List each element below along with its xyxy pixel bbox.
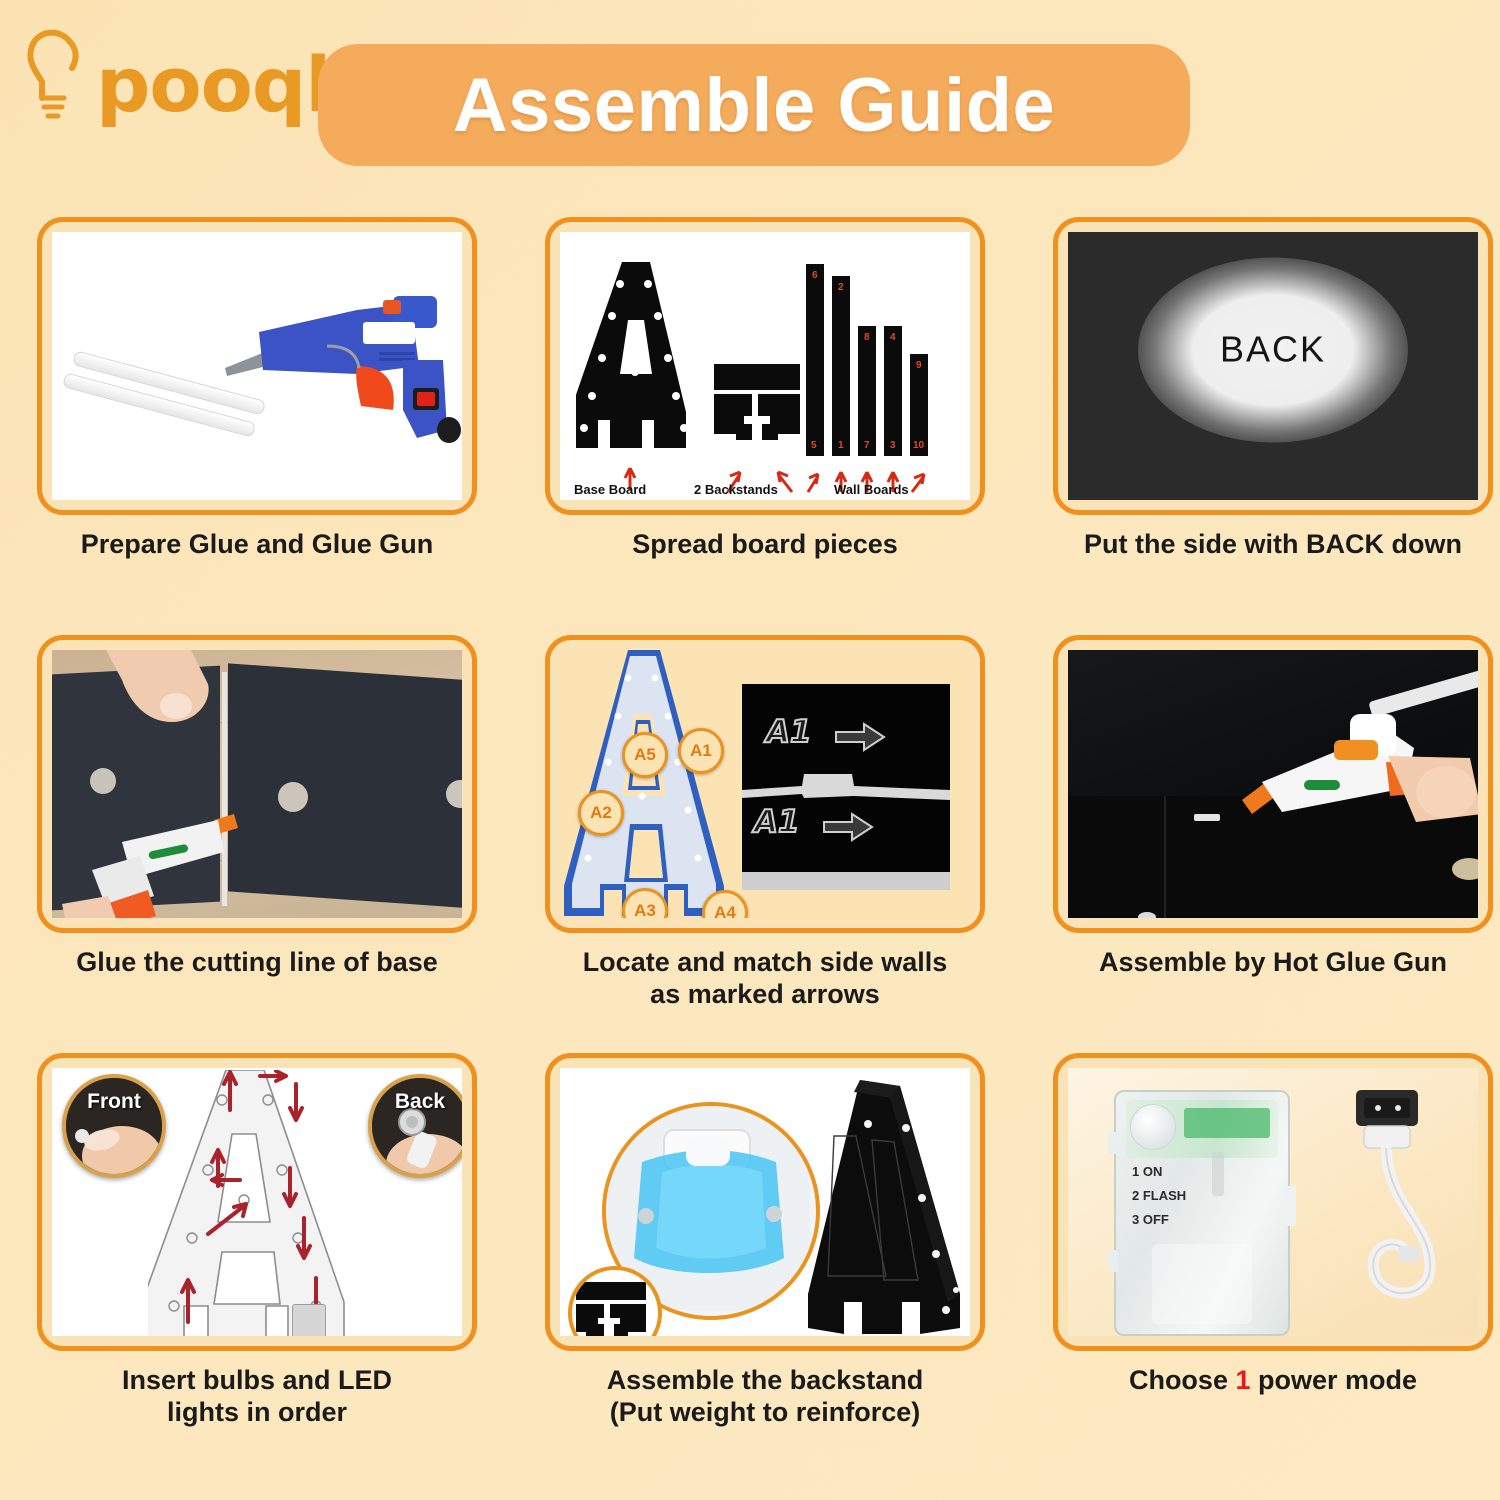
page-header: pooqla Assemble Guide xyxy=(0,0,1500,200)
arrow-right-icon xyxy=(834,722,888,752)
steps-grid: Prepare Glue and Glue Gun xyxy=(0,205,1500,1500)
step-5-caption: Locate and match side walls as marked ar… xyxy=(530,947,1000,1011)
wall-board-4-3 xyxy=(884,326,902,456)
bulb-cap xyxy=(1138,912,1156,918)
step-3-caption: Put the side with BACK down xyxy=(1038,529,1500,561)
wall-number: 5 xyxy=(811,440,817,451)
step-5-caption-line2: as marked arrows xyxy=(650,979,880,1009)
wall-number: 9 xyxy=(916,360,922,371)
box-tab xyxy=(1108,1132,1118,1154)
bulb-hole xyxy=(90,768,116,794)
step-7-caption-line1: Insert bulbs and LED xyxy=(122,1365,392,1395)
wall-boards-label: Wall Boards xyxy=(834,482,909,497)
backstands-label: 2 Backstands xyxy=(694,482,778,497)
step-5-caption-line1: Locate and match side walls xyxy=(583,947,948,977)
step-6-caption: Assemble by Hot Glue Gun xyxy=(1038,947,1500,979)
step-card-1: Prepare Glue and Glue Gun xyxy=(22,217,492,561)
wall-board-8-7 xyxy=(858,326,876,456)
battery-box-small xyxy=(292,1304,326,1336)
wall-number: 10 xyxy=(913,440,924,451)
switch-dial xyxy=(1130,1104,1176,1150)
marker-a5: A5 xyxy=(622,732,668,778)
power-mode-2: 2 FLASH xyxy=(1132,1188,1186,1203)
step-4-frame xyxy=(37,635,477,933)
step-9-caption-suffix: power mode xyxy=(1251,1365,1418,1395)
page-title-banner: Assemble Guide xyxy=(318,44,1190,166)
step-8-caption: Assemble the backstand (Put weight to re… xyxy=(530,1365,1000,1429)
wall-board-strip xyxy=(742,854,950,890)
circuit-board xyxy=(1184,1108,1270,1138)
arrow-right-icon xyxy=(822,812,876,842)
base-board-right xyxy=(228,663,462,908)
step-card-4: Glue the cutting line of base xyxy=(22,635,492,979)
white-glue-gun-icon xyxy=(1238,696,1478,846)
step-2-frame: 6 2 8 4 9 5 1 7 3 10 xyxy=(545,217,985,515)
bulb-hole xyxy=(278,782,308,812)
wall-board-strip xyxy=(742,772,950,812)
wall-number: 1 xyxy=(838,440,844,451)
step-card-9: 1 ON 2 FLASH 3 OFF xyxy=(1038,1053,1500,1397)
letter-a-shape xyxy=(560,650,746,918)
step-7-caption: Insert bulbs and LED lights in order xyxy=(22,1365,492,1429)
board-pieces-diagram: 6 2 8 4 9 5 1 7 3 10 xyxy=(560,232,970,500)
hand-icon xyxy=(96,650,226,750)
base-board-shape xyxy=(576,262,696,462)
back-marked-board: BACK xyxy=(1068,232,1478,500)
page-title: Assemble Guide xyxy=(453,62,1056,149)
bulb-insert-diagram: Front Back xyxy=(52,1068,462,1336)
battery-box: 1 ON 2 FLASH 3 OFF xyxy=(1114,1090,1290,1336)
wall-board-2-1 xyxy=(832,276,850,456)
wall-board-6-5 xyxy=(806,264,824,456)
step-card-2: 6 2 8 4 9 5 1 7 3 10 xyxy=(530,217,1000,561)
step-card-7: Front Back Insert bulbs and LED light xyxy=(22,1053,492,1429)
step-1-caption: Prepare Glue and Glue Gun xyxy=(22,529,492,561)
brand-logo: pooqla xyxy=(24,22,294,132)
step-3-frame: BACK xyxy=(1053,217,1493,515)
glue-gun-icon xyxy=(207,270,462,470)
usb-cable-icon xyxy=(1312,1086,1478,1336)
step-7-caption-line2: lights in order xyxy=(167,1397,347,1427)
gluing-base-seam-photo xyxy=(52,650,462,918)
step-card-8: Assemble the backstand (Put weight to re… xyxy=(530,1053,1000,1429)
power-mode-1: 1 ON xyxy=(1132,1164,1162,1179)
side-wall-inset: A1 A1 xyxy=(742,684,950,890)
battery-compartment xyxy=(1152,1244,1252,1324)
wall-number: 3 xyxy=(890,440,896,451)
step-5-frame: A1 A2 A3 A4 A5 A1 A1 xyxy=(545,635,985,933)
step-9-caption: Choose 1 power mode xyxy=(1038,1365,1500,1397)
step-6-frame xyxy=(1053,635,1493,933)
backstand-with-weight xyxy=(560,1068,970,1336)
letter-a-markers-illustration: A1 A2 A3 A4 A5 A1 A1 xyxy=(560,650,970,918)
front-label: Front xyxy=(66,1090,162,1114)
inset-tag-a1-top: A1 xyxy=(766,714,812,750)
letter-a-backstand-3d xyxy=(798,1076,970,1336)
switch-slider[interactable] xyxy=(1212,1152,1224,1196)
wall-number: 6 xyxy=(812,270,818,281)
wall-number: 2 xyxy=(838,282,844,293)
backstand-shapes xyxy=(712,364,804,456)
step-8-caption-line2: (Put weight to reinforce) xyxy=(610,1397,921,1427)
wall-number: 7 xyxy=(864,440,870,451)
back-label: Back xyxy=(372,1090,462,1114)
step-card-5: A1 A2 A3 A4 A5 A1 A1 xyxy=(530,635,1000,1011)
step-card-3: BACK Put the side with BACK down xyxy=(1038,217,1500,561)
back-text: BACK xyxy=(1220,329,1326,371)
wall-number: 8 xyxy=(864,332,870,343)
white-glue-gun-icon xyxy=(62,812,242,918)
step-9-caption-prefix: Choose xyxy=(1129,1365,1236,1395)
marker-a1: A1 xyxy=(678,728,724,774)
step-9-caption-number: 1 xyxy=(1235,1365,1250,1395)
step-4-caption: Glue the cutting line of base xyxy=(22,947,492,979)
marker-a2: A2 xyxy=(578,790,624,836)
letter-a-outline xyxy=(148,1070,378,1336)
hot-glue-gun-photo xyxy=(1068,650,1478,918)
battery-box-and-usb: 1 ON 2 FLASH 3 OFF xyxy=(1068,1068,1478,1336)
power-mode-3: 3 OFF xyxy=(1132,1212,1169,1227)
box-latch[interactable] xyxy=(1284,1186,1296,1226)
step-8-caption-line1: Assemble the backstand xyxy=(607,1365,924,1395)
box-tab xyxy=(1108,1250,1118,1272)
bulb-cap xyxy=(1452,858,1478,880)
step-8-frame xyxy=(545,1053,985,1351)
step-7-frame: Front Back xyxy=(37,1053,477,1351)
back-bulb-inset: Back xyxy=(368,1074,462,1178)
step-1-frame xyxy=(37,217,477,515)
glue-residue xyxy=(1194,814,1220,821)
board-seam xyxy=(1164,796,1166,918)
lightbulb-icon xyxy=(24,22,96,132)
back-glow-spot: BACK xyxy=(1138,257,1408,442)
step-card-6: Assemble by Hot Glue Gun xyxy=(1038,635,1500,979)
backstand-pieces-icon xyxy=(572,1270,652,1336)
glue-gun-and-sticks-illustration xyxy=(52,232,462,500)
wall-number: 4 xyxy=(890,332,896,343)
step-2-caption: Spread board pieces xyxy=(530,529,1000,561)
step-9-frame: 1 ON 2 FLASH 3 OFF xyxy=(1053,1053,1493,1351)
base-board-label: Base Board xyxy=(574,482,646,497)
front-bulb-inset: Front xyxy=(62,1074,166,1178)
